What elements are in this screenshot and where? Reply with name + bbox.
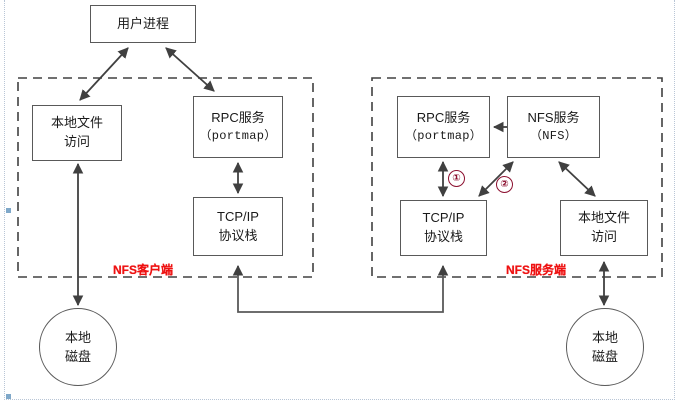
label-nfs-client-zone: NFS客户端: [113, 261, 173, 278]
label-nfs-server-zone: NFS服务端: [506, 261, 566, 278]
node-client-rpc-service-line2: （portmap）: [199, 128, 276, 145]
node-client-local-file-access-line1: 本地文件: [51, 114, 103, 133]
node-server-local-file-access[interactable]: 本地文件 访问: [560, 200, 648, 256]
diagram-canvas: 用户进程 本地文件 访问 RPC服务 （portmap） TCP/IP 协议栈 …: [0, 0, 679, 419]
node-server-tcpip-stack-line1: TCP/IP: [423, 209, 465, 228]
node-client-rpc-service-line1: RPC服务: [211, 109, 264, 128]
node-server-tcpip-stack[interactable]: TCP/IP 协议栈: [400, 200, 487, 256]
node-server-rpc-service[interactable]: RPC服务 （portmap）: [397, 96, 490, 158]
node-server-nfs-service[interactable]: NFS服务 （NFS）: [507, 96, 600, 158]
node-client-tcpip-stack-line1: TCP/IP: [217, 208, 259, 227]
node-server-local-disk-line1: 本地: [592, 328, 618, 348]
node-client-local-file-access[interactable]: 本地文件 访问: [32, 105, 122, 161]
node-server-rpc-service-line1: RPC服务: [417, 109, 470, 128]
node-client-rpc-service[interactable]: RPC服务 （portmap）: [193, 96, 283, 158]
step-badge-two: ②: [496, 176, 513, 193]
node-server-tcpip-stack-line2: 协议栈: [424, 228, 463, 247]
node-server-local-file-access-line1: 本地文件: [578, 209, 630, 228]
node-client-local-disk-line1: 本地: [65, 328, 91, 348]
page-anchor-handle-left[interactable]: [6, 208, 11, 213]
node-client-tcpip-stack-line2: 协议栈: [218, 227, 257, 246]
node-client-tcpip-stack[interactable]: TCP/IP 协议栈: [193, 197, 283, 256]
node-user-process[interactable]: 用户进程: [90, 5, 196, 43]
node-server-rpc-service-line2: （portmap）: [405, 128, 482, 145]
node-server-nfs-service-line2: （NFS）: [530, 128, 577, 145]
node-server-local-disk[interactable]: 本地 磁盘: [566, 308, 644, 386]
node-server-nfs-service-line1: NFS服务: [527, 109, 579, 128]
arrow-server-nfs-localfile: [559, 162, 595, 196]
arrow-userprocess-rpc: [166, 48, 214, 91]
node-server-local-file-access-line2: 访问: [591, 228, 617, 247]
node-client-local-disk[interactable]: 本地 磁盘: [39, 308, 117, 386]
node-server-local-disk-line2: 磁盘: [592, 347, 618, 367]
page-anchor-handle-bottom[interactable]: [6, 394, 11, 399]
node-client-local-file-access-line2: 访问: [64, 133, 90, 152]
arrow-network-link: [238, 266, 443, 312]
arrow-userprocess-localfile: [80, 48, 128, 100]
node-user-process-label: 用户进程: [117, 15, 169, 34]
node-client-local-disk-line2: 磁盘: [65, 347, 91, 367]
step-badge-one: ①: [448, 170, 465, 187]
